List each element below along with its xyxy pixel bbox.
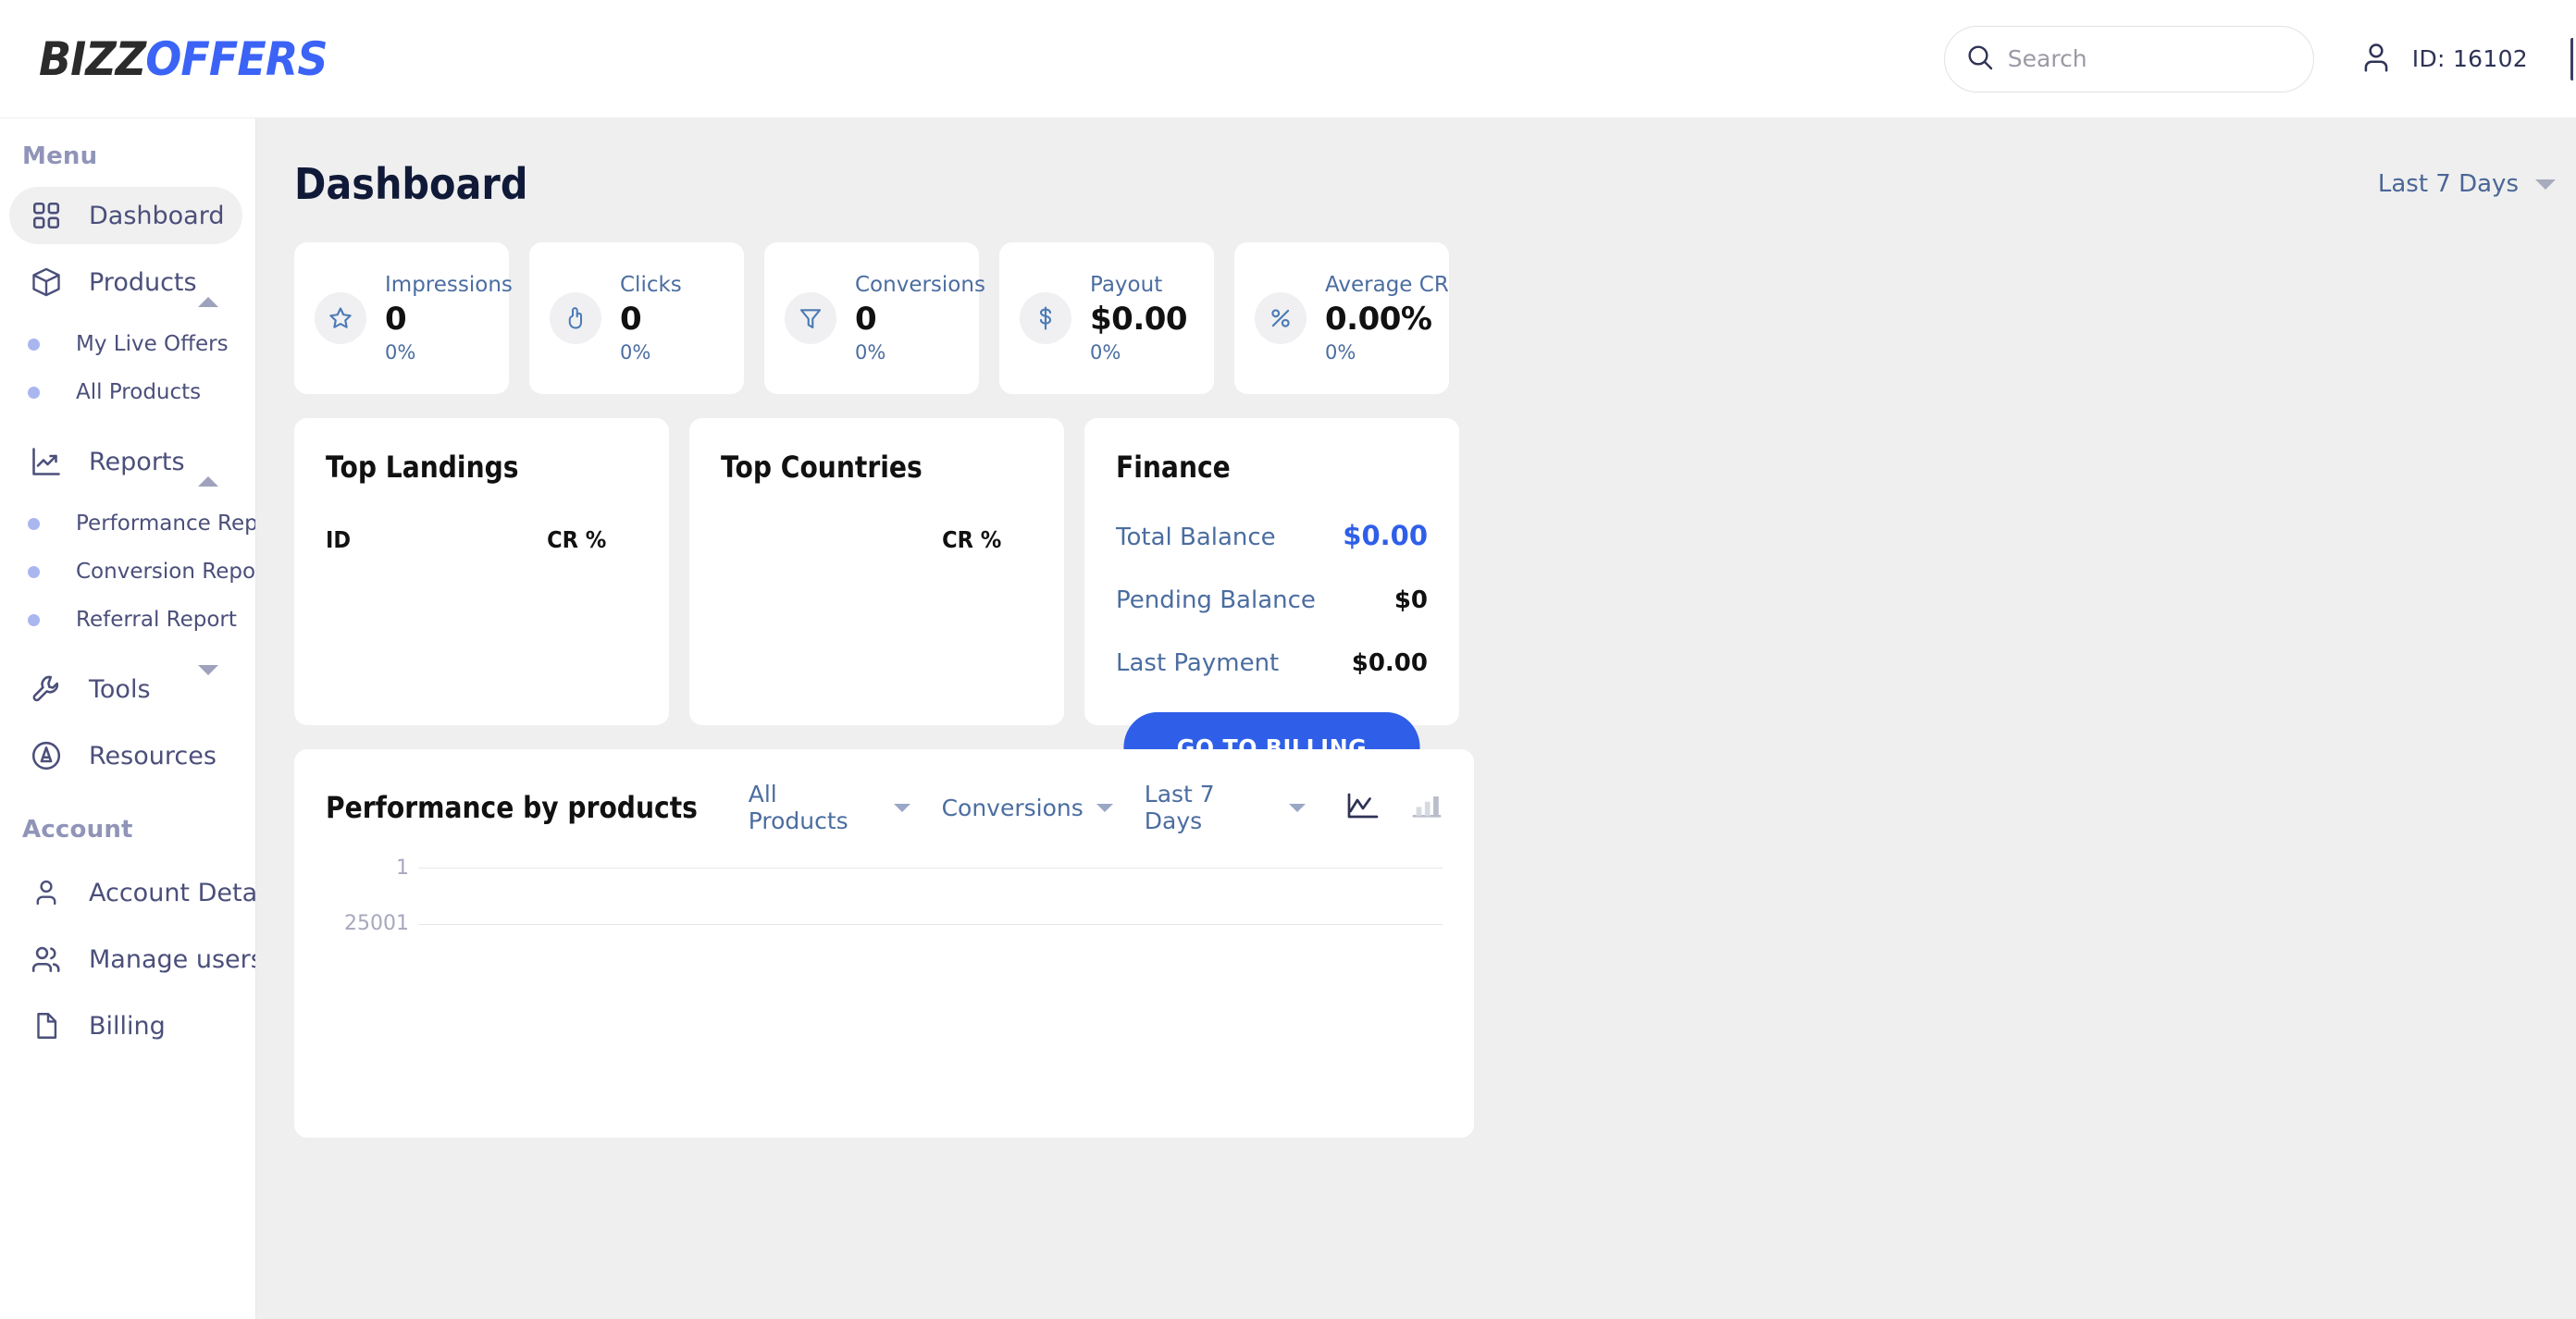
stat-card-impressions[interactable]: Impressions 0 0% [294, 242, 509, 394]
sidebar-item-account-details[interactable]: Account Details [9, 864, 242, 921]
top-bar-right: Search ID: 16102 [1944, 26, 2576, 92]
sidebar-item-products[interactable]: Products [9, 253, 242, 311]
sidebar-item-tools[interactable]: Tools [9, 660, 242, 718]
percent-icon [1255, 292, 1307, 344]
performance-controls: All Products Conversions Last 7 Days [749, 781, 1443, 834]
click-hand-icon [550, 292, 601, 344]
logo-text-accent: OFFERS [145, 36, 327, 82]
column-header-cr: CR % [942, 526, 1001, 553]
grid-icon [28, 197, 65, 234]
product-filter-label: All Products [749, 781, 881, 834]
box-icon [28, 264, 65, 301]
stat-value: 0 [855, 301, 985, 338]
bullet-dot-icon [28, 518, 40, 530]
finance-label: Pending Balance [1116, 586, 1316, 614]
page-header: Dashboard Last 7 Days [256, 150, 2576, 218]
sidebar-item-label: Tools [89, 675, 151, 704]
finance-panel: Finance Total Balance $0.00 Pending Bala… [1084, 418, 1459, 725]
stat-label: Impressions [385, 273, 513, 297]
date-range-dropdown[interactable]: Last 7 Days [2378, 170, 2556, 198]
top-bar: BIZZOFFERS Search ID: 16102 [0, 0, 2576, 118]
users-icon [28, 941, 65, 978]
stat-value: $0.00 [1090, 301, 1187, 338]
sidebar-item-label: Account Details [89, 879, 256, 907]
logo-text-primary: BIZZ [39, 36, 145, 82]
stat-body: Average CR 0.00% 0% [1325, 273, 1449, 364]
stat-delta: 0% [385, 341, 513, 364]
user-id-label: ID: 16102 [2412, 45, 2528, 72]
performance-chart[interactable]: 1 25001 [326, 868, 1443, 1145]
chart-ytick-label: 25001 [326, 912, 409, 935]
panels-row: Top Landings ID CR % Top Countries CR % … [256, 394, 2576, 725]
sidebar-item-label: Referral Report [76, 608, 237, 632]
bullet-dot-icon [28, 387, 40, 399]
finance-value: $0 [1394, 586, 1428, 614]
chevron-up-icon[interactable] [198, 268, 218, 297]
finance-row-total-balance: Total Balance $0.00 [1116, 520, 1428, 551]
sidebar-section-account: Account [0, 816, 255, 844]
search-input[interactable]: Search [1944, 26, 2314, 92]
top-landings-table-header: ID CR % [326, 526, 606, 553]
sidebar-section-menu: Menu [0, 142, 255, 170]
performance-by-products-panel: Performance by products All Products Con… [294, 749, 1474, 1138]
stat-card-average-cr[interactable]: Average CR 0.00% 0% [1234, 242, 1449, 394]
stat-delta: 0% [620, 341, 682, 364]
sidebar-item-label: Dashboard [89, 202, 224, 230]
bullet-dot-icon [28, 339, 40, 351]
chart-range-dropdown[interactable]: Last 7 Days [1145, 781, 1306, 834]
stat-card-payout[interactable]: Payout $0.00 0% [999, 242, 1214, 394]
finance-row-pending-balance: Pending Balance $0 [1116, 586, 1428, 614]
user-icon [2359, 40, 2394, 79]
dollar-icon [1020, 292, 1071, 344]
stat-delta: 0% [1090, 341, 1187, 364]
sidebar-item-billing[interactable]: Billing [9, 997, 242, 1054]
app-root: BIZZOFFERS Search ID: 16102 [0, 0, 2576, 1319]
product-filter-dropdown[interactable]: All Products [749, 781, 910, 834]
chart-line-icon [28, 443, 65, 480]
stat-body: Conversions 0 0% [855, 273, 985, 364]
bar-chart-icon[interactable] [1411, 792, 1443, 823]
sidebar-item-my-live-offers[interactable]: My Live Offers [9, 320, 255, 368]
resources-icon [28, 737, 65, 774]
stat-body: Payout $0.00 0% [1090, 273, 1187, 364]
chevron-down-icon [1096, 804, 1113, 812]
chart-gridline [418, 868, 1443, 869]
column-header-cr: CR % [547, 526, 606, 553]
stat-label: Conversions [855, 273, 985, 297]
metric-filter-label: Conversions [942, 795, 1084, 821]
top-countries-table-header: CR % [721, 526, 1001, 553]
finance-label: Last Payment [1116, 649, 1279, 677]
user-icon [28, 874, 65, 911]
sidebar-item-label: Products [89, 268, 197, 297]
chevron-down-icon [2535, 179, 2556, 190]
edge-cutoff-icon[interactable] [2570, 38, 2576, 80]
brand-logo[interactable]: BIZZOFFERS [39, 36, 328, 82]
page-title: Dashboard [294, 159, 527, 209]
stats-row: Impressions 0 0% Clicks 0 0% [256, 218, 2576, 394]
date-range-label: Last 7 Days [2378, 170, 2519, 198]
search-icon [1965, 43, 1995, 76]
sidebar: Menu Dashboard Products My Live Offers [0, 118, 256, 1319]
finance-value: $0.00 [1343, 520, 1428, 551]
sidebar-item-label: All Products [76, 380, 201, 404]
stat-value: 0 [385, 301, 513, 338]
stat-card-clicks[interactable]: Clicks 0 0% [529, 242, 744, 394]
stat-delta: 0% [855, 341, 985, 364]
main-content: Dashboard Last 7 Days Impressions 0 0% [256, 118, 2576, 1319]
chevron-down-icon [894, 804, 910, 812]
funnel-icon [785, 292, 836, 344]
stat-label: Clicks [620, 273, 682, 297]
sidebar-item-label: My Live Offers [76, 332, 229, 356]
chevron-down-icon[interactable] [198, 675, 218, 704]
finance-label: Total Balance [1116, 524, 1276, 551]
sidebar-item-all-products[interactable]: All Products [9, 368, 255, 416]
stat-label: Average CR [1325, 273, 1449, 297]
line-chart-icon[interactable] [1346, 792, 1380, 823]
metric-filter-dropdown[interactable]: Conversions [942, 795, 1113, 821]
sidebar-item-dashboard[interactable]: Dashboard [9, 187, 242, 244]
panel-title: Finance [1116, 450, 1391, 485]
wrench-icon [28, 671, 65, 708]
chart-range-label: Last 7 Days [1145, 781, 1276, 834]
panel-title: Top Landings [326, 450, 601, 485]
stat-label: Payout [1090, 273, 1187, 297]
sidebar-item-referral-report[interactable]: Referral Report [9, 596, 255, 644]
finance-value: $0.00 [1352, 649, 1428, 677]
panel-title: Performance by products [326, 790, 698, 825]
sidebar-item-conversion-report[interactable]: Conversion Report [9, 548, 255, 596]
sidebar-item-reports[interactable]: Reports [9, 433, 242, 490]
stat-body: Clicks 0 0% [620, 273, 682, 364]
sidebar-item-label: Billing [89, 1012, 166, 1041]
sidebar-item-label: Manage users [89, 945, 256, 974]
sidebar-item-label: Resources [89, 742, 217, 770]
sidebar-item-manage-users[interactable]: Manage users [9, 931, 242, 988]
column-header-id: ID [326, 526, 351, 553]
sidebar-item-performance-report[interactable]: Performance Report [9, 499, 255, 548]
sidebar-item-label: Performance Report [76, 512, 256, 536]
stat-delta: 0% [1325, 341, 1449, 364]
chevron-down-icon [1289, 804, 1306, 812]
panel-title: Top Countries [721, 450, 996, 485]
search-placeholder-text: Search [2008, 45, 2087, 72]
sidebar-item-resources[interactable]: Resources [9, 727, 242, 784]
stat-value: 0 [620, 301, 682, 338]
sidebar-item-label: Conversion Report [76, 560, 256, 584]
star-icon [315, 292, 366, 344]
chart-ytick-label: 1 [326, 857, 409, 880]
stat-value: 0.00% [1325, 301, 1449, 338]
file-icon [28, 1007, 65, 1044]
stat-body: Impressions 0 0% [385, 273, 513, 364]
finance-row-last-payment: Last Payment $0.00 [1116, 649, 1428, 677]
performance-header: Performance by products All Products Con… [326, 781, 1443, 834]
sidebar-item-label: Reports [89, 448, 185, 476]
bullet-dot-icon [28, 566, 40, 578]
top-landings-panel: Top Landings ID CR % [294, 418, 669, 725]
user-account-area[interactable]: ID: 16102 [2359, 40, 2528, 79]
bullet-dot-icon [28, 614, 40, 626]
chevron-up-icon[interactable] [198, 448, 218, 476]
top-countries-panel: Top Countries CR % [689, 418, 1064, 725]
chart-type-toggle [1346, 792, 1443, 823]
stat-card-conversions[interactable]: Conversions 0 0% [764, 242, 979, 394]
chart-gridline [418, 924, 1443, 925]
